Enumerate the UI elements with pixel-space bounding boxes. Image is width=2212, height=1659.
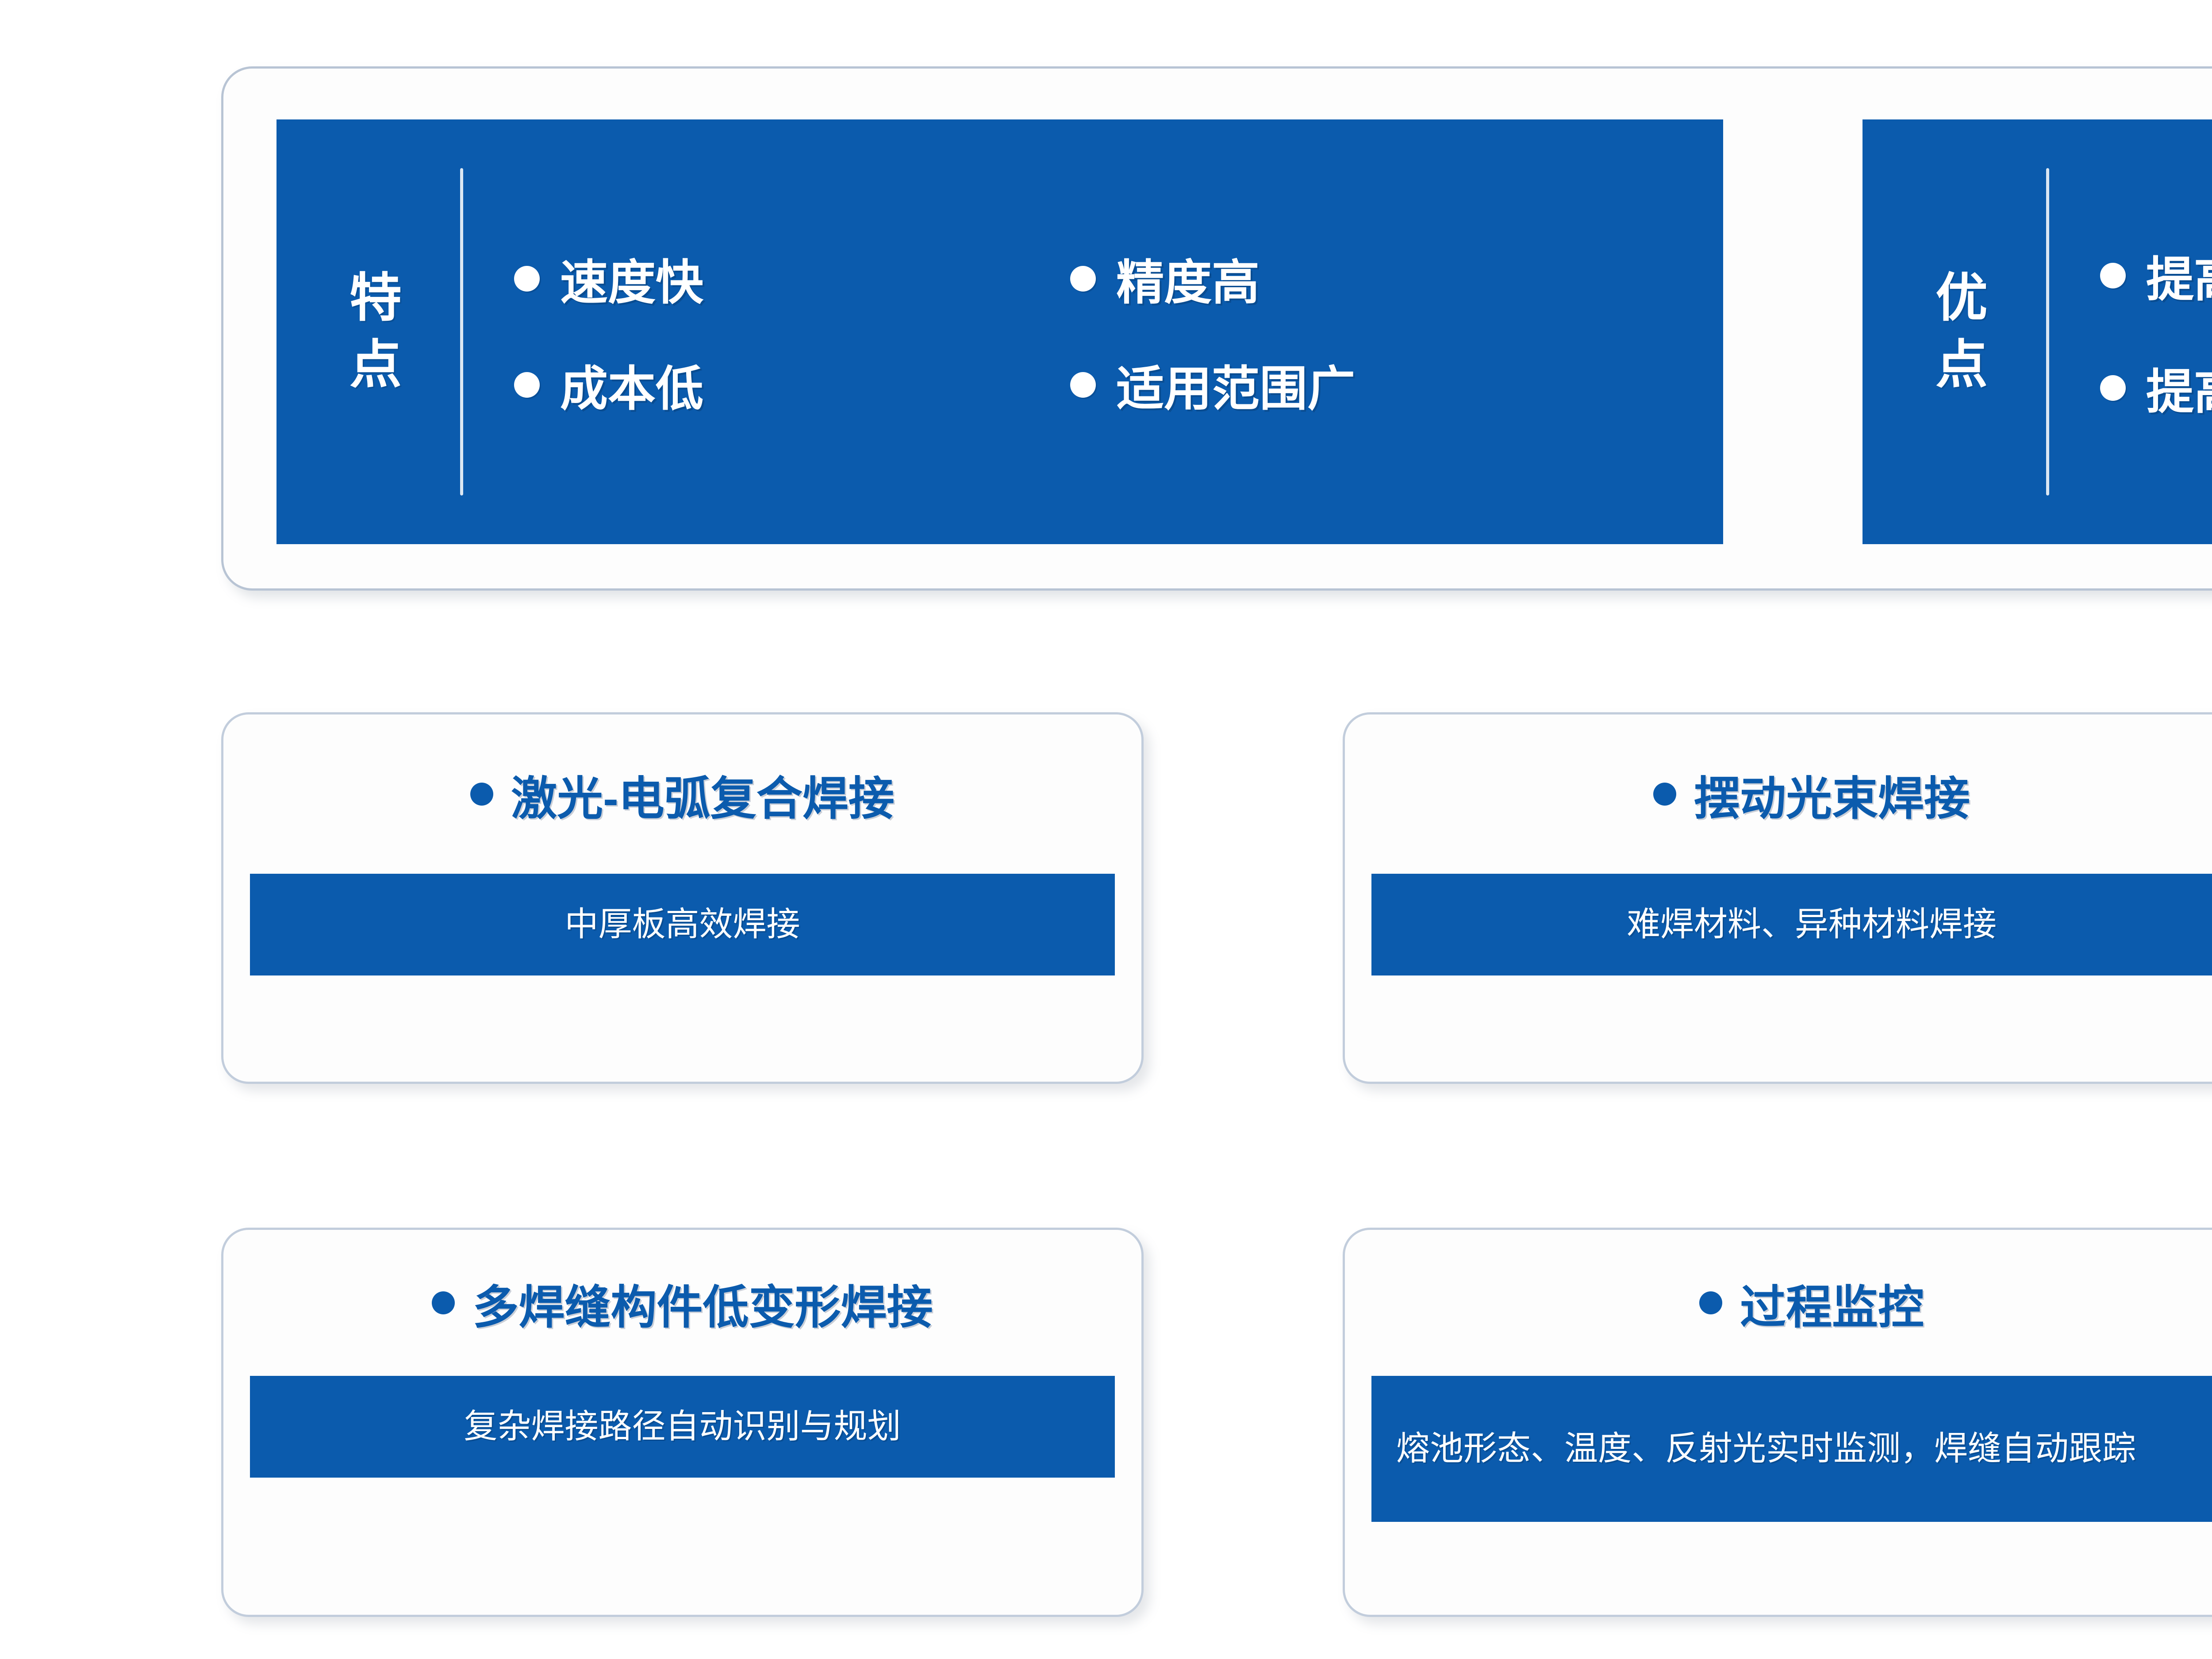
features-panel-divider (460, 168, 463, 495)
tech-card-title: 激光-电弧复合焊接 (511, 761, 895, 828)
tech-card-subtitle: 中厚板高效焊接 (250, 874, 1115, 975)
tech-card[interactable]: 激光-电弧复合焊接 中厚板高效焊接 (221, 712, 1144, 1084)
bullet-dot-icon (1653, 783, 1676, 806)
advantages-panel-divider (2046, 168, 2049, 495)
summary-container: 特点 速度快 精度高 成本低 适用范围广 优点 (221, 66, 2212, 591)
bullet-dot-icon (432, 1291, 455, 1314)
tech-card-title-row: 多焊缝构件低变形焊接 (223, 1230, 1141, 1376)
bullet-dot-icon (1070, 266, 1096, 292)
features-panel: 特点 速度快 精度高 成本低 适用范围广 (276, 119, 1723, 544)
features-bullet-list: 速度快 精度高 成本低 适用范围广 (463, 226, 1723, 438)
bullet-dot-icon (514, 266, 540, 292)
tech-card-subtitle: 复杂焊接路径自动识别与规划 (250, 1376, 1115, 1478)
bullet-dot-icon (2100, 263, 2126, 288)
tech-card-title: 多焊缝构件低变形焊接 (472, 1270, 933, 1336)
features-bullet-item: 速度快 (514, 244, 1070, 313)
bullet-dot-icon (514, 372, 540, 398)
features-bullet-label: 成本低 (560, 350, 703, 419)
bullet-dot-icon (1070, 372, 1096, 398)
features-panel-label: 特点 (334, 265, 418, 399)
bullet-dot-icon (470, 783, 493, 806)
advantages-bullet-item: 提高生产效率 (2100, 353, 2212, 422)
tech-card-title-row: 摆动光束焊接 (1345, 714, 2212, 874)
advantages-bullet-label: 提高生产效率 (2146, 353, 2212, 422)
features-bullet-label: 适用范围广 (1116, 350, 1355, 419)
tech-card-title-row: 激光-电弧复合焊接 (223, 714, 1141, 874)
tech-card[interactable]: 摆动光束焊接 难焊材料、异种材料焊接 (1343, 712, 2212, 1084)
features-bullet-item: 适用范围广 (1070, 350, 1675, 419)
tech-card-subtitle: 熔池形态、温度、反射光实时监测，焊缝自动跟踪 (1371, 1376, 2212, 1522)
tech-card[interactable]: 过程监控 熔池形态、温度、反射光实时监测，焊缝自动跟踪 (1343, 1228, 2212, 1617)
bullet-dot-icon (2100, 375, 2126, 401)
features-bullet-label: 精度高 (1116, 244, 1260, 313)
tech-card[interactable]: 多焊缝构件低变形焊接 复杂焊接路径自动识别与规划 (221, 1228, 1144, 1617)
advantages-panel-label: 优点 (1920, 265, 2004, 399)
features-bullet-item: 精度高 (1070, 244, 1675, 313)
advantages-bullet-item: 提高焊接质量 (2100, 241, 2212, 310)
tech-card-title-row: 过程监控 (1345, 1230, 2212, 1376)
advantages-bullet-label: 提高焊接质量 (2146, 241, 2212, 310)
tech-card-title: 摆动光束焊接 (1694, 761, 1970, 828)
bullet-dot-icon (1699, 1291, 1722, 1314)
tech-card-subtitle: 难焊材料、异种材料焊接 (1371, 874, 2212, 975)
features-bullet-item: 成本低 (514, 350, 1070, 419)
tech-card-title: 过程监控 (1740, 1270, 1924, 1336)
features-bullet-label: 速度快 (560, 244, 703, 313)
advantages-panel: 优点 提高焊接质量 降低生产成本 提高生产效率 (1863, 119, 2212, 544)
advantages-bullet-list: 提高焊接质量 降低生产成本 提高生产效率 (2049, 223, 2212, 441)
